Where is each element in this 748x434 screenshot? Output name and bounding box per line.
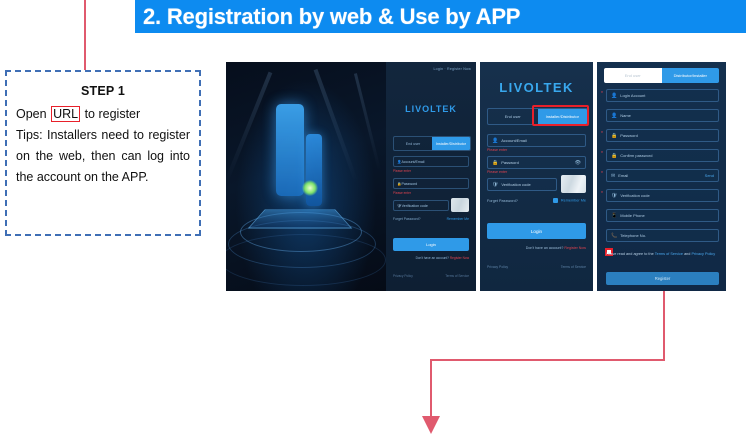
section-title-banner: 2. Registration by web & Use by APP [135,0,746,33]
step-title: STEP 1 [16,84,190,98]
login-password-field[interactable]: 🔒 Password 👁 [487,156,586,169]
user-icon: 👤 [611,93,617,99]
register-confirm-password-field[interactable]: 🔒 Confirm password [606,149,719,162]
login-verification-label: Verification code [501,182,530,187]
lock-icon: 🔒 [611,133,617,139]
terms-of-service-link[interactable]: Terms of Service [655,252,683,256]
register-verification-field[interactable]: 🛡 Verification code [606,189,719,202]
arrow-head-icon [422,416,440,434]
hero-options-row: Forget Password? Remember Me [393,217,469,221]
hero-illustration [226,62,386,291]
login-tab-end-user[interactable]: End user [488,109,538,124]
panel-register-form: End user Distributor/Installer * 👤 Login… [597,62,726,291]
step-line1-before: Open [16,107,47,121]
url-highlight[interactable]: URL [51,106,80,122]
send-code-button[interactable]: Send [705,173,714,178]
hero-logo: LIVOLTEK [386,104,476,114]
required-mark: * [601,131,603,137]
light-beam-icon [226,72,272,185]
hero-tab-installer[interactable]: Installer/Distributor [432,137,470,150]
register-tab-end-user[interactable]: End user [604,68,662,83]
panel-login-form: LIVOLTEK End user Installer/Distributor … [480,62,593,291]
required-mark: * [601,191,603,197]
required-mark: * [601,171,603,177]
register-verification-label: Verification code [620,193,649,198]
hero-account-field[interactable]: 👤 Account/Email [393,156,469,167]
checkbox-icon [553,198,558,203]
login-footer-privacy[interactable]: Privacy Policy [487,265,508,269]
agree-mid: and [684,252,690,256]
hero-password-field[interactable]: 🔒 Password [393,178,469,189]
login-register-prompt-text: Don't have an account? [526,246,564,250]
arrow-segment-horizontal [430,359,665,361]
hero-forgot-link[interactable]: Forget Password? [393,217,421,221]
lock-icon: 🔒 [611,153,617,159]
register-telephone-field[interactable]: 📞 Telephone No. [606,229,719,242]
login-submit-button[interactable]: Login [487,223,586,239]
login-remember-checkbox[interactable]: Remember Me [553,198,586,203]
hero-topnav[interactable]: Login · Register Now [433,67,471,71]
hero-error-1: Please enter [393,169,411,173]
privacy-policy-link[interactable]: Privacy Policy [691,252,715,256]
login-footer-terms[interactable]: Terms of Service [561,265,586,269]
login-options-row: Forget Password? Remember Me [487,198,586,203]
login-verification-field[interactable]: 🛡 Verification code [487,178,557,191]
hero-captcha-image[interactable] [451,198,469,212]
hero-verification-label: Verification code [402,204,428,208]
step-body-text: Tips: Installers need to register on the… [16,125,190,188]
hero-error-2: Please enter [393,191,411,195]
register-submit-button[interactable]: Register [606,272,719,285]
login-footer: Privacy Policy Terms of Service [487,265,586,269]
step-line-open-url: Open URL to register [16,104,190,125]
agree-text: I have read and agree to the Terms of Se… [606,250,721,259]
login-remember-label: Remember Me [561,199,586,203]
hero-remember-checkbox[interactable]: Remember Me [447,217,469,221]
eye-icon[interactable]: 👁 [575,160,581,166]
register-confirm-password-label: Confirm password [620,153,652,158]
hero-login-form: Login · Register Now LIVOLTEK End user I… [386,62,476,291]
hero-footer: Privacy Policy Terms of Service [393,274,469,278]
login-password-label: Password [501,160,519,165]
register-name-field[interactable]: 👤 Name [606,109,719,122]
required-mark: * [601,91,603,97]
register-login-account-field[interactable]: 👤 Login Account [606,89,719,102]
hero-login-button[interactable]: Login [393,238,469,251]
login-error-1: Please enter [487,148,507,152]
hero-footer-privacy[interactable]: Privacy Policy [393,274,413,278]
page-title: 2. Registration by web & Use by APP [135,4,520,30]
hero-tab-end-user[interactable]: End user [394,137,432,150]
login-captcha-image[interactable] [561,175,586,193]
step-callout-box: STEP 1 Open URL to register Tips: Instal… [5,70,201,236]
shield-icon: 🛡 [611,193,617,199]
login-forgot-link[interactable]: Forget Password? [487,199,518,203]
register-role-tabs[interactable]: End user Distributor/Installer [604,68,719,83]
login-account-field[interactable]: 👤 Account/Email [487,134,586,147]
arrow-segment-vertical-top [663,291,665,360]
register-password-label: Password [620,133,638,138]
register-tab-distributor[interactable]: Distributor/Installer [662,68,720,83]
hero-register-prompt: Don't have an account? Register Now [393,256,469,260]
register-login-account-label: Login Account [620,93,645,98]
required-mark: * [601,151,603,157]
login-account-label: Account/Email [501,138,527,143]
user-icon: 👤 [611,113,617,119]
shield-icon: 🛡 [492,182,498,188]
panel-hero-login: Login · Register Now LIVOLTEK End user I… [226,62,476,291]
hero-account-label: Account/Email [401,160,424,164]
hero-verification-field[interactable]: 🛡 Verification code [393,200,449,211]
register-mobile-field[interactable]: 📱 Mobile Phone [606,209,719,222]
login-register-prompt: Don't have an account? Register Now [487,246,586,250]
register-email-field[interactable]: ✉ Email Send [606,169,719,182]
login-register-link[interactable]: Register Now [564,246,586,250]
register-telephone-label: Telephone No. [620,233,646,238]
register-mobile-label: Mobile Phone [620,213,644,218]
login-error-2: Please enter [487,170,507,174]
hero-role-tabs[interactable]: End user Installer/Distributor [393,136,471,151]
login-tab-highlight [532,105,589,126]
step-line1-after: to register [85,107,141,121]
hero-footer-terms[interactable]: Terms of Service [445,274,469,278]
register-password-field[interactable]: 🔒 Password [606,129,719,142]
agree-prefix: I have read and agree to the [606,252,654,256]
energy-glow-icon [302,180,318,196]
base-plate-icon [248,209,353,228]
light-beam-icon [354,73,381,171]
hero-password-label: Password [401,182,417,186]
tel-icon: 📞 [611,233,617,239]
lock-icon: 🔒 [492,160,498,166]
inverter-tower-icon [276,104,304,196]
register-name-label: Name [620,113,631,118]
hero-register-link[interactable]: Register Now [450,256,469,260]
hero-register-prompt-text: Don't have an account? [416,256,449,260]
register-email-label: Email [618,173,628,178]
login-logo: LIVOLTEK [480,80,593,95]
user-icon: 👤 [492,138,498,144]
mail-icon: ✉ [611,173,615,179]
phone-icon: 📱 [611,213,617,219]
